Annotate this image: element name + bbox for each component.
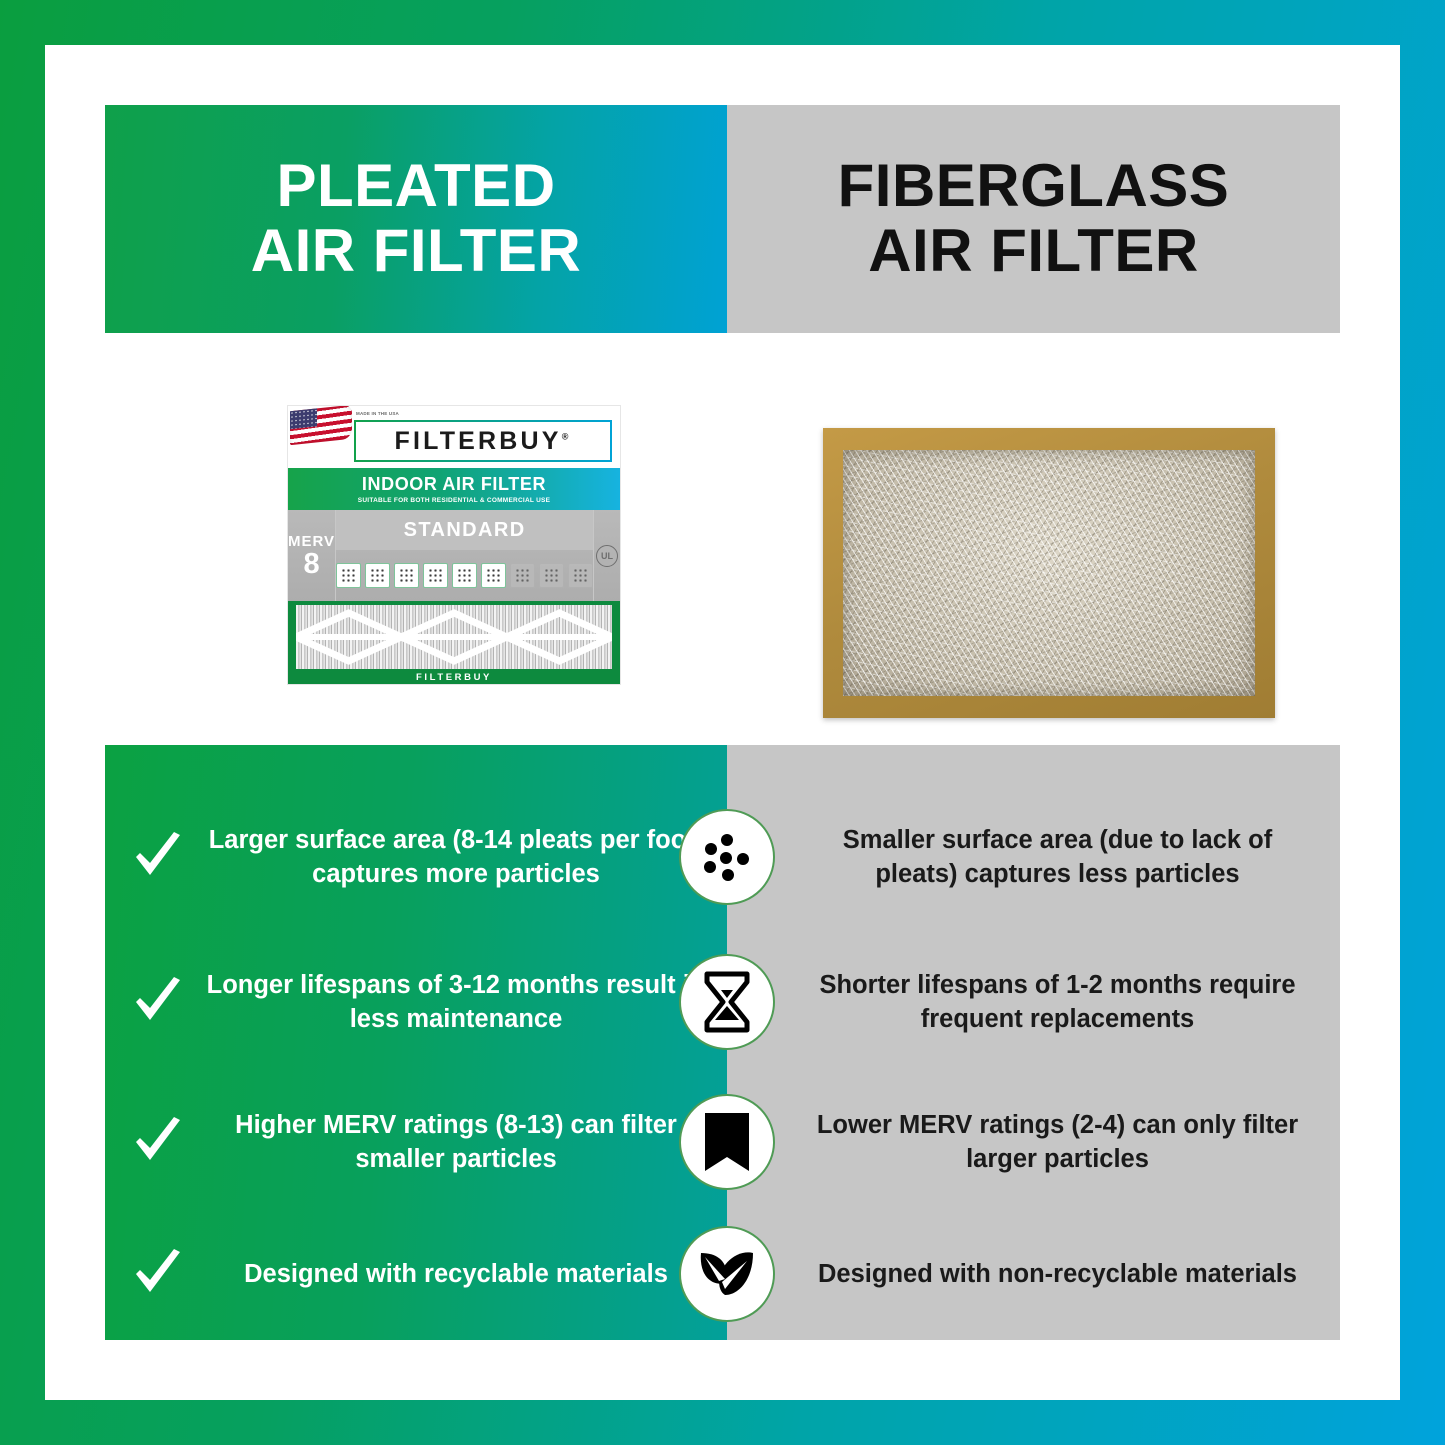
fiberglass-mesh-texture [843,450,1255,696]
pleat-texture [296,605,612,669]
bacteria-icon [423,563,448,588]
row-right-side: Smaller surface area (due to lack of ple… [727,823,1340,891]
banner-secondary-text: SUITABLE FOR BOTH RESIDENTIAL & COMMERCI… [358,497,550,504]
row-right-side: Lower MERV ratings (2-4) can only filter… [727,1108,1340,1176]
row-right-text: Shorter lifespans of 1-2 months require … [805,968,1310,1036]
row-right-side: Shorter lifespans of 1-2 months require … [727,968,1340,1036]
package-spec-band: MERV 8 STANDARD [288,510,620,601]
dust-icon [336,563,361,588]
comparison-row: Larger surface area (8-14 pleats per foo… [105,787,1340,927]
comparison-row: Longer lifespans of 3-12 months result i… [105,943,1340,1061]
pleated-product-cell: MADE IN THE USA FILTERBUY® INDOOR AIR FI… [105,333,727,745]
row-right-side: Designed with non-recyclable materials [727,1257,1340,1291]
pet-dander-icon [481,563,506,588]
made-in-usa-label: MADE IN THE USA [356,411,399,417]
row-center-icon-slot [679,1094,775,1190]
comparison-section: Larger surface area (8-14 pleats per foo… [105,745,1340,1340]
package-grade-column: STANDARD [336,510,593,601]
row-left-text: Higher MERV ratings (8-13) can filter sm… [203,1108,709,1176]
header-fiberglass-panel: FIBERGLASS AIR FILTER [727,105,1340,333]
certification-block: UL [593,510,620,601]
row-left-text: Longer lifespans of 3-12 months result i… [203,968,709,1036]
pleated-media-window: FILTERBUY [288,601,620,685]
row-left-text: Larger surface area (8-14 pleats per foo… [203,823,709,891]
pollen-icon [365,563,390,588]
row-left-text: Designed with recyclable materials [203,1257,709,1291]
row-left-side: Longer lifespans of 3-12 months result i… [105,968,727,1036]
row-left-side: Higher MERV ratings (8-13) can filter sm… [105,1108,727,1176]
package-top-section: MADE IN THE USA FILTERBUY® [288,406,620,468]
usa-flag-icon [290,405,352,445]
fiberglass-product-cell [727,333,1340,745]
row-center-icon-slot [679,809,775,905]
row-right-text: Designed with non-recyclable materials [805,1257,1310,1291]
row-center-icon-slot [679,1226,775,1322]
row-center-icon-slot [679,954,775,1050]
particles-icon [679,809,775,905]
banner-primary-text: INDOOR AIR FILTER [362,474,546,495]
ul-certification-icon: UL [596,545,618,567]
row-right-text: Lower MERV ratings (2-4) can only filter… [805,1108,1310,1176]
checkmark-icon [129,828,187,886]
pleated-header-title: PLEATED AIR FILTER [251,154,582,284]
package-capability-icon-row [336,550,593,601]
leaf-icon [679,1226,775,1322]
merv-rating-block: MERV 8 [288,510,336,601]
merv-label: MERV [288,533,335,550]
comparison-rows: Larger surface area (8-14 pleats per foo… [105,745,1340,1340]
checkmark-icon [129,1113,187,1171]
header-pleated-panel: PLEATED AIR FILTER [105,105,727,333]
package-footer-brand: FILTERBUY [288,672,620,683]
row-right-text: Smaller surface area (due to lack of ple… [805,823,1310,891]
product-image-band: MADE IN THE USA FILTERBUY® INDOOR AIR FI… [105,333,1340,745]
comparison-row: Higher MERV ratings (8-13) can filter sm… [105,1083,1340,1201]
row-left-side: Designed with recyclable materials [105,1245,727,1303]
virus-icon-disabled [568,563,593,588]
brand-logo-text: FILTERBUY® [394,427,571,456]
hourglass-icon [679,954,775,1050]
bookmark-icon [679,1094,775,1190]
comparison-row: Designed with recyclable materials [105,1215,1340,1333]
fiberglass-filter-image [823,428,1275,718]
brand-logo-frame: FILTERBUY® [354,420,612,462]
infographic-canvas: PLEATED AIR FILTER FIBERGLASS AIR FILTER… [45,45,1400,1400]
comparison-infographic: PLEATED AIR FILTER FIBERGLASS AIR FILTER… [0,0,1445,1445]
smog-icon-disabled [539,563,564,588]
checkmark-icon [129,973,187,1031]
fiberglass-header-title: FIBERGLASS AIR FILTER [838,154,1230,284]
package-grade-label: STANDARD [336,510,593,550]
checkmark-icon [129,1245,187,1303]
mold-icon [394,563,419,588]
pleat-support-bars [296,605,612,669]
package-banner: INDOOR AIR FILTER SUITABLE FOR BOTH RESI… [288,468,620,510]
merv-value: 8 [303,550,319,579]
row-left-side: Larger surface area (8-14 pleats per foo… [105,823,727,891]
header-row: PLEATED AIR FILTER FIBERGLASS AIR FILTER [105,105,1340,333]
filterbuy-package-image: MADE IN THE USA FILTERBUY® INDOOR AIR FI… [287,405,621,685]
lint-icon [452,563,477,588]
smoke-icon-disabled [510,563,535,588]
